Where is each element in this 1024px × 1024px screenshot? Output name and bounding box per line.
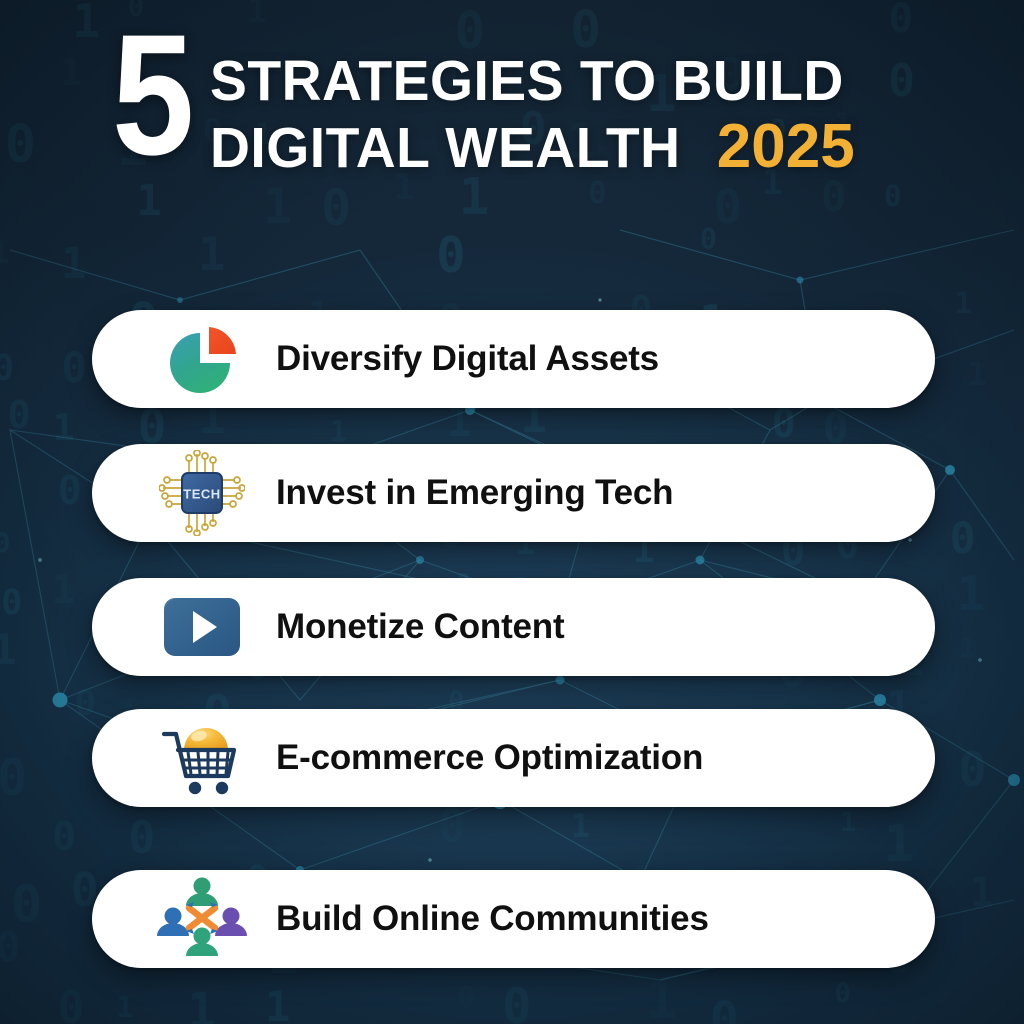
strategy-card-label: E-commerce Optimization: [276, 738, 703, 778]
headline-line-2: DIGITAL WEALTH: [210, 117, 681, 181]
binary-digit: 1: [53, 410, 75, 447]
binary-digit: 0: [835, 980, 851, 1007]
binary-digit: 1: [265, 986, 290, 1024]
binary-digit: 1: [959, 636, 975, 663]
binary-digit: 0: [0, 351, 14, 387]
strategy-card-label: Build Online Communities: [276, 899, 709, 939]
binary-digit: 0: [0, 927, 21, 968]
binary-digit: 1: [61, 243, 87, 286]
binary-digit: 1: [51, 571, 75, 611]
microchip-tech-icon: TECH: [154, 450, 250, 536]
binary-digit: 1: [954, 289, 972, 319]
binary-digit: 0: [958, 747, 986, 794]
microchip-label: TECH: [183, 487, 220, 502]
binary-digit: 0: [458, 983, 475, 1012]
infographic-poster: 1010001111000101011011101100100111000100…: [0, 0, 1024, 1024]
binary-digit: 0: [58, 472, 82, 512]
strategy-card-label: Diversify Digital Assets: [276, 339, 659, 379]
binary-digit: 0: [0, 753, 27, 803]
pie-chart-icon: [154, 316, 250, 402]
headline-row-1: STRATEGIES TO BUILD: [210, 50, 863, 114]
headline-number: 5: [112, 28, 191, 162]
strategy-card-list: Diversify Digital Assets: [92, 310, 935, 968]
strategy-card[interactable]: Diversify Digital Assets: [92, 310, 935, 408]
binary-digit: 0: [821, 176, 846, 218]
binary-digit: 1: [957, 571, 985, 618]
binary-digit: 0: [436, 232, 465, 281]
binary-digit: 0: [950, 518, 976, 561]
headline-line-1: STRATEGIES TO BUILD: [210, 50, 844, 114]
binary-digit: 0: [11, 880, 42, 932]
binary-digit: 0: [58, 987, 85, 1024]
binary-digit: 0: [321, 184, 351, 234]
binary-digit: 0: [710, 996, 739, 1024]
strategy-card[interactable]: Build Online Communities: [92, 870, 935, 968]
shopping-cart-icon: [154, 715, 250, 801]
binary-digit: 0: [52, 818, 76, 857]
binary-digit: 1: [263, 183, 292, 232]
binary-digit: 1: [116, 994, 133, 1022]
binary-digit: 0: [889, 0, 913, 38]
binary-digit: 1: [0, 239, 9, 269]
binary-digit: 0: [61, 347, 86, 389]
strategy-card[interactable]: TECH Invest in Emerging Tech: [92, 444, 935, 542]
binary-digit: 0: [1, 586, 22, 621]
strategy-card-label: Invest in Emerging Tech: [276, 473, 673, 513]
strategy-card-label: Monetize Content: [276, 607, 564, 647]
binary-digit: 0: [884, 182, 902, 211]
strategy-card[interactable]: E-commerce Optimization: [92, 709, 935, 807]
binary-digit: 1: [0, 629, 17, 671]
headline-text-block: STRATEGIES TO BUILD DIGITAL WEALTH 2025: [210, 34, 863, 181]
headline-row-2: DIGITAL WEALTH 2025: [210, 114, 863, 181]
binary-digit: 0: [502, 983, 531, 1024]
binary-digit: 1: [967, 358, 987, 391]
binary-digit: 1: [198, 232, 226, 278]
binary-digit: 0: [588, 179, 606, 210]
binary-digit: 0: [0, 531, 10, 558]
binary-digit: 0: [713, 184, 742, 231]
binary-digit: 0: [700, 226, 717, 254]
strategy-card[interactable]: Monetize Content: [92, 578, 935, 676]
binary-digit: 1: [970, 874, 994, 914]
binary-digit: 1: [646, 976, 677, 1024]
video-play-button-icon: [154, 584, 250, 670]
community-network-icon: [154, 876, 250, 962]
binary-digit: 1: [248, 0, 268, 28]
binary-digit: 1: [187, 987, 216, 1024]
poster-header: 5 STRATEGIES TO BUILD DIGITAL WEALTH 202…: [0, 34, 1024, 181]
headline-year: 2025: [717, 114, 855, 179]
binary-digit: 0: [8, 397, 31, 436]
